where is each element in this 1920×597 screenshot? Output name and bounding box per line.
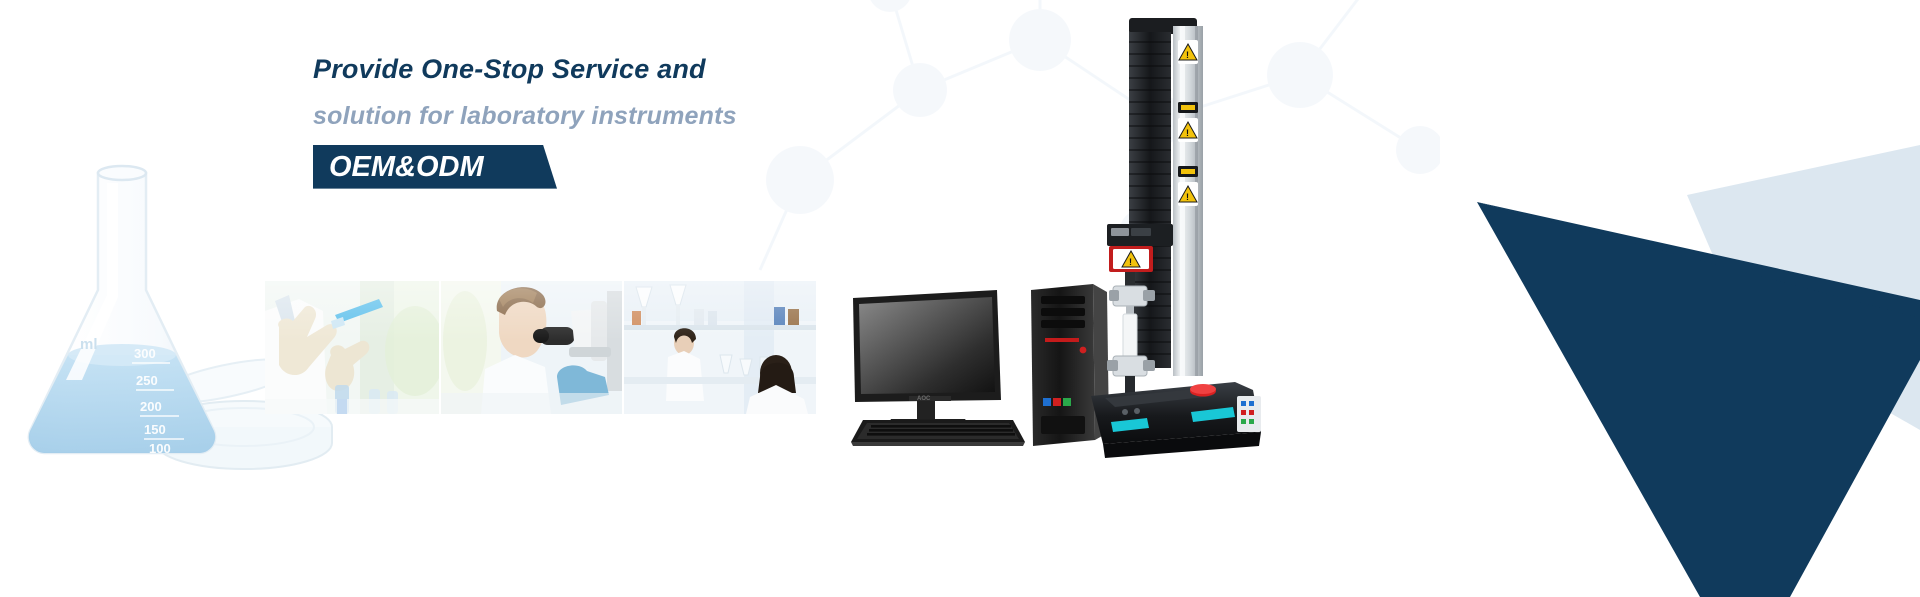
- svg-text:200: 200: [140, 399, 162, 414]
- svg-text:!: !: [1129, 257, 1132, 267]
- svg-text:100: 100: [149, 441, 171, 456]
- universal-tensile-testing-machine: ! ! ! !: [1085, 18, 1305, 458]
- light-arrow-icon: [1687, 145, 1920, 430]
- computer-monitor: AOC: [853, 290, 1001, 430]
- promotional-banner: Provide One-Stop Service and solution fo…: [0, 0, 1920, 597]
- photo-gloved-hands-pipette: [265, 281, 439, 414]
- svg-text:250: 250: [136, 373, 158, 388]
- svg-text:!: !: [1186, 128, 1189, 138]
- test-specimen: [1123, 314, 1137, 358]
- svg-text:!: !: [1186, 192, 1189, 202]
- lab-photo-strip: [265, 281, 816, 414]
- dark-arrow-icon: [1477, 202, 1920, 597]
- photo-microscope: [441, 281, 622, 414]
- svg-text:!: !: [1186, 50, 1189, 60]
- svg-text:300: 300: [134, 346, 156, 361]
- computer-keyboard: [851, 420, 1025, 446]
- headline-block: Provide One-Stop Service and solution fo…: [313, 55, 933, 189]
- headline-line-1: Provide One-Stop Service and: [313, 55, 933, 83]
- svg-text:150: 150: [144, 422, 166, 437]
- machine-base: [1091, 382, 1261, 458]
- erlenmeyer-flask: 300 250 200 150 100 ml: [29, 166, 215, 456]
- headline-line-2: solution for laboratory instruments: [313, 103, 933, 129]
- flask-unit-label: ml: [80, 336, 98, 353]
- dark-arrow-icon-tail: [1477, 202, 1920, 318]
- crosshead-assembly: [1107, 224, 1173, 246]
- photo-lab-bench: [624, 281, 816, 414]
